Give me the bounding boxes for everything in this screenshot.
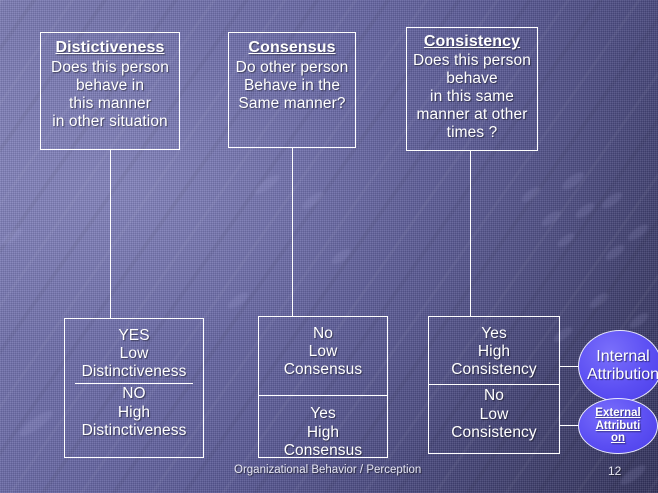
outcome-line: Consensus: [259, 442, 387, 460]
outcome-line: High: [259, 424, 387, 442]
outcome-line: High: [65, 404, 203, 422]
outcome-line: Low: [65, 345, 203, 363]
box-distinctiveness[interactable]: Distictiveness Does this person behave i…: [40, 32, 180, 150]
decorative-blob: [226, 290, 251, 311]
connector-internal-attribution: [560, 366, 580, 367]
box-consistency[interactable]: Consistency Does this person behave in t…: [406, 27, 538, 151]
outcome-line: Low: [429, 406, 559, 424]
slide-footer: Organizational Behavior / Perception: [234, 464, 421, 476]
external-attribution-line: on: [611, 432, 625, 444]
box-distinctiveness-line: Does this person: [41, 59, 179, 77]
connector-consensus: [292, 148, 293, 316]
box-divider: [259, 395, 387, 396]
decorative-blob: [17, 407, 56, 439]
outcome-line: High: [429, 343, 559, 361]
decorative-blob: [329, 246, 352, 266]
box-distinctiveness-line: this manner: [41, 95, 179, 113]
decorative-blob: [618, 462, 648, 488]
outcome-line: NO: [65, 385, 203, 403]
box-consistency-outcome[interactable]: Yes High Consistency No Low Consistency: [428, 316, 560, 454]
outcome-line: No: [259, 325, 387, 343]
internal-attribution-label: Internal Attribution: [581, 348, 658, 383]
box-consensus-line: Behave in the: [229, 77, 355, 95]
decorative-blob: [0, 226, 24, 247]
decorative-blob: [560, 169, 587, 192]
box-consistency-line: behave: [407, 70, 537, 88]
box-consensus-title: Consensus: [229, 39, 355, 58]
outcome-line: No: [429, 387, 559, 405]
decorative-blob: [627, 310, 650, 330]
ellipse-external-attribution[interactable]: External Attributi on: [578, 398, 658, 454]
box-consistency-line: Does this person: [407, 52, 537, 70]
external-attribution-line: Attributi: [596, 420, 641, 432]
box-distinctiveness-outcome[interactable]: YES Low Distinctiveness NO High Distinct…: [64, 318, 204, 458]
outcome-line: Yes: [429, 325, 559, 343]
decorative-blob: [539, 208, 562, 228]
slide-page-number: 12: [608, 464, 621, 478]
box-consistency-line: manner at other: [407, 106, 537, 124]
ellipse-internal-attribution[interactable]: Internal Attribution: [578, 330, 658, 402]
internal-attribution-line: Attribution: [587, 366, 658, 383]
decorative-blob: [300, 189, 326, 212]
connector-external-attribution: [560, 425, 580, 426]
decorative-blob: [519, 184, 542, 204]
slide-canvas: Distictiveness Does this person behave i…: [0, 0, 658, 493]
box-consistency-title: Consistency: [407, 33, 537, 52]
box-divider: [75, 383, 193, 384]
connector-distinctiveness: [110, 150, 111, 318]
external-attribution-line: External: [595, 407, 640, 419]
box-consensus-line: Do other person: [229, 59, 355, 77]
box-consensus-outcome[interactable]: No Low Consensus Yes High Consensus: [258, 316, 388, 458]
outcome-line: Distinctiveness: [65, 363, 203, 381]
box-distinctiveness-title: Distictiveness: [41, 39, 179, 58]
box-consistency-line: in this same: [407, 88, 537, 106]
box-distinctiveness-line: in other situation: [41, 113, 179, 131]
box-distinctiveness-line: behave in: [41, 77, 179, 95]
box-consensus-line: Same manner?: [229, 95, 355, 113]
outcome-line: YES: [65, 327, 203, 345]
external-attribution-label: External Attributi on: [595, 407, 640, 445]
connector-consistency: [470, 151, 471, 316]
box-divider: [429, 384, 559, 385]
outcome-line: Yes: [259, 405, 387, 423]
outcome-line: Distinctiveness: [65, 422, 203, 440]
decorative-blob: [252, 172, 282, 197]
decorative-blob: [603, 242, 626, 262]
outcome-line: Consistency: [429, 361, 559, 379]
decorative-blob: [556, 231, 577, 249]
decorative-blob: [587, 290, 610, 310]
outcome-line: Consistency: [429, 424, 559, 442]
decorative-blob: [573, 200, 596, 220]
decorative-blob: [600, 190, 625, 211]
internal-attribution-line: Internal: [596, 348, 649, 365]
decorative-blob: [626, 222, 651, 243]
box-consistency-line: times ?: [407, 124, 537, 142]
outcome-line: Consensus: [259, 361, 387, 379]
outcome-line: Low: [259, 343, 387, 361]
box-consensus[interactable]: Consensus Do other person Behave in the …: [228, 32, 356, 148]
